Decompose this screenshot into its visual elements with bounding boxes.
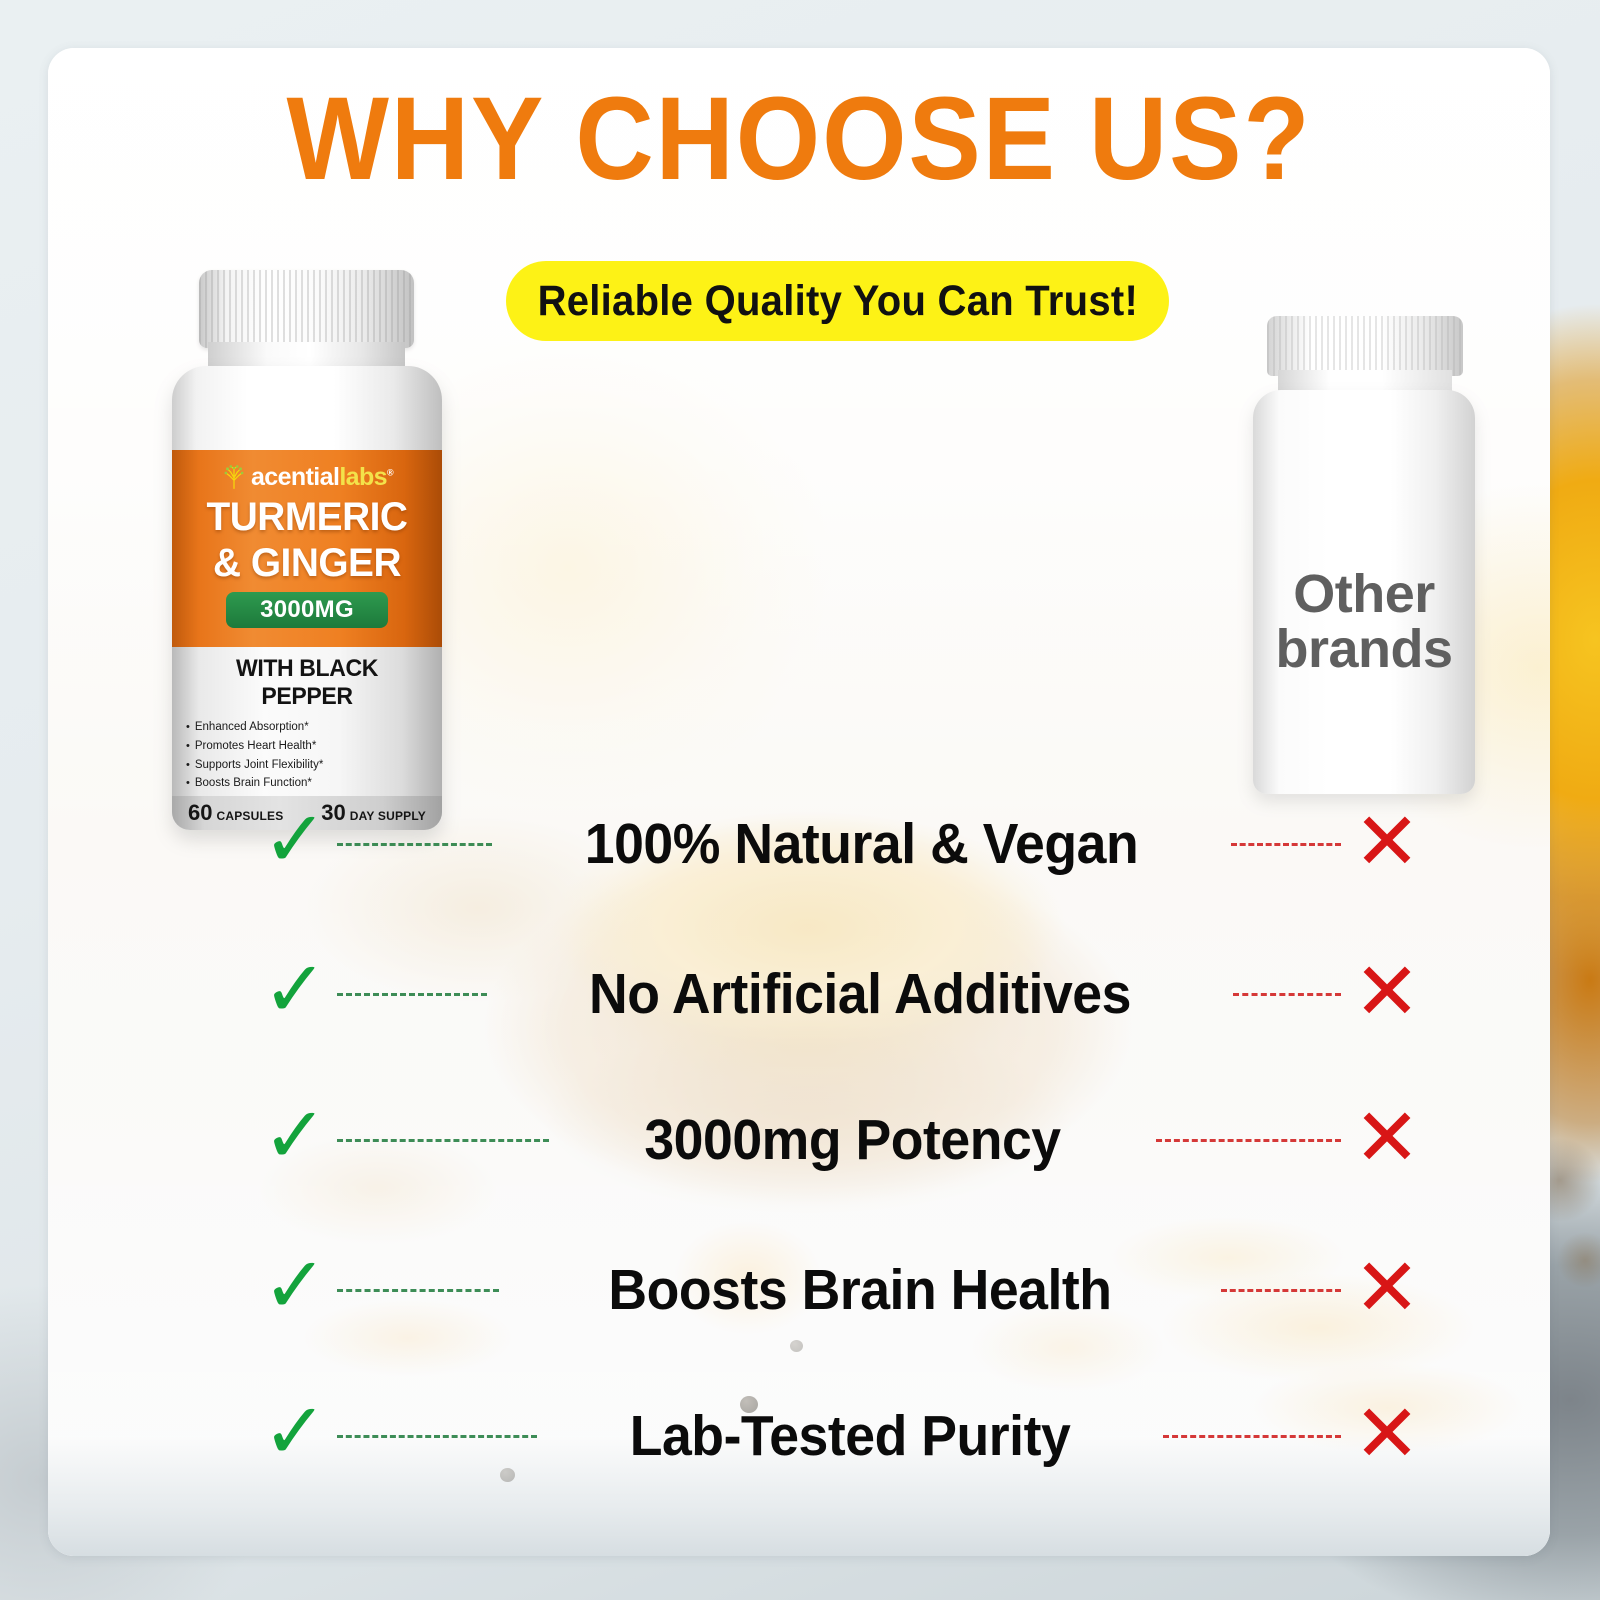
comparison-row: ✓ No Artificial Additives ✕ [253, 946, 1433, 1042]
check-icon: ✓ [253, 1247, 337, 1325]
product-bottle: acentiallabs® TURMERIC & GINGER 3000MG W… [156, 270, 456, 830]
list-item: Promotes Heart Health* [186, 737, 336, 756]
red-dash-connector [1156, 1139, 1341, 1142]
other-brands-label: Other brands [1275, 567, 1452, 677]
red-dash-connector [1231, 843, 1341, 846]
comparison-label: 100% Natural & Vegan [514, 811, 1209, 877]
dosage-badge: 3000MG [226, 592, 388, 628]
comparison-row: ✓ Lab-Tested Purity ✕ [253, 1388, 1433, 1484]
list-item: Boosts Brain Function* [186, 774, 336, 793]
cross-icon: ✕ [1341, 1098, 1433, 1178]
check-icon: ✓ [253, 1393, 337, 1471]
infographic-card: WHY CHOOSE US? Reliable Quality You Can … [48, 48, 1550, 1556]
turmeric-bowl-image [330, 685, 430, 783]
comparison-label: Boosts Brain Health [521, 1257, 1200, 1323]
tree-logo-icon [221, 464, 247, 490]
bottle-label-silver: WITH BLACK PEPPER Enhanced Absorption* P… [172, 647, 442, 798]
page-title: WHY CHOOSE US? [108, 80, 1490, 198]
cross-icon: ✕ [1341, 1248, 1433, 1328]
comparison-row: ✓ 100% Natural & Vegan ✕ [253, 796, 1433, 892]
brand-name: acentiallabs® [251, 465, 393, 490]
peppercorn-icon [790, 1340, 803, 1352]
bottle-label-orange: acentiallabs® TURMERIC & GINGER 3000MG [172, 450, 442, 647]
brand-name-part1: acential [251, 463, 339, 491]
comparison-row: ✓ Boosts Brain Health ✕ [253, 1242, 1433, 1338]
other-brands-line1: Other [1275, 567, 1452, 622]
green-dash-connector [337, 1289, 499, 1292]
list-item: Supports Joint Flexibility* [186, 756, 336, 775]
comparison-label: No Artificial Additives [509, 961, 1210, 1027]
comparison-label: 3000mg Potency [567, 1107, 1138, 1173]
red-dash-connector [1163, 1435, 1341, 1438]
bottle-feature-list: Enhanced Absorption* Promotes Heart Heal… [186, 718, 336, 793]
other-bottle-body: Other brands [1253, 390, 1475, 794]
other-brands-line2: brands [1275, 622, 1452, 677]
comparison-row: ✓ 3000mg Potency ✕ [253, 1092, 1433, 1188]
other-bottle-cap [1267, 316, 1463, 376]
red-dash-connector [1233, 993, 1341, 996]
list-item: Enhanced Absorption* [186, 718, 336, 737]
cross-icon: ✕ [1341, 1394, 1433, 1474]
brand-name-part2: labs [339, 463, 387, 491]
product-name-line2: & GINGER [188, 544, 427, 582]
tagline-badge: Reliable Quality You Can Trust! [506, 261, 1169, 341]
green-dash-connector [337, 1435, 537, 1438]
check-icon: ✓ [253, 1097, 337, 1175]
check-icon: ✓ [253, 801, 337, 879]
comparison-label: Lab-Tested Purity [556, 1403, 1144, 1469]
brand-lockup: acentiallabs® [184, 464, 430, 490]
other-brands-bottle: Other brands [1245, 316, 1483, 794]
registered-mark: ® [387, 467, 393, 477]
cross-icon: ✕ [1341, 952, 1433, 1032]
green-dash-connector [337, 843, 492, 846]
capsule-count-number: 60 [188, 800, 212, 826]
bottle-cap [199, 270, 414, 348]
tagline-text: Reliable Quality You Can Trust! [537, 277, 1137, 326]
green-dash-connector [337, 1139, 549, 1142]
check-icon: ✓ [253, 951, 337, 1029]
bottle-body: acentiallabs® TURMERIC & GINGER 3000MG W… [172, 366, 442, 830]
product-name-line1: TURMERIC [188, 498, 427, 536]
green-dash-connector [337, 993, 487, 996]
red-dash-connector [1221, 1289, 1341, 1292]
cross-icon: ✕ [1341, 802, 1433, 882]
